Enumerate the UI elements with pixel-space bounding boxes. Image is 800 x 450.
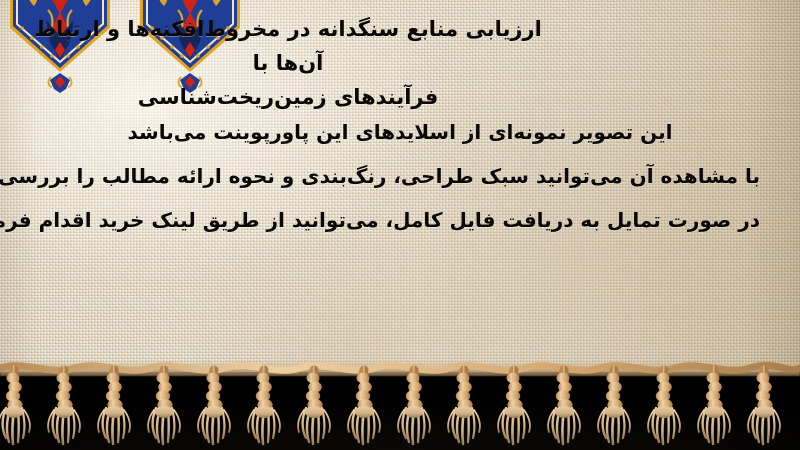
slide-title-line-1: ارزیابی منابع سنگدانه در مخروط‌افکنه‌ها … xyxy=(34,17,542,75)
slide-title-line-2: فرآیندهای زمین‌ریخت‌شناسی xyxy=(12,80,564,114)
slide-body: این تصویر نمونه‌ای از اسلایدهای این پاور… xyxy=(40,110,760,242)
slide-body-line-1: این تصویر نمونه‌ای از اسلایدهای این پاور… xyxy=(40,110,760,154)
slide-title: ارزیابی منابع سنگدانه در مخروط‌افکنه‌ها … xyxy=(12,12,564,114)
slide-body-line-3: در صورت تمایل به دریافت فایل کامل، می‌تو… xyxy=(40,198,760,242)
knotted-tassel-fringe xyxy=(0,356,800,450)
slide-canvas: ارزیابی منابع سنگدانه در مخروط‌افکنه‌ها … xyxy=(0,0,800,450)
slide-body-line-2: با مشاهده آن می‌توانید سبک طراحی، رنگ‌بن… xyxy=(40,154,760,198)
